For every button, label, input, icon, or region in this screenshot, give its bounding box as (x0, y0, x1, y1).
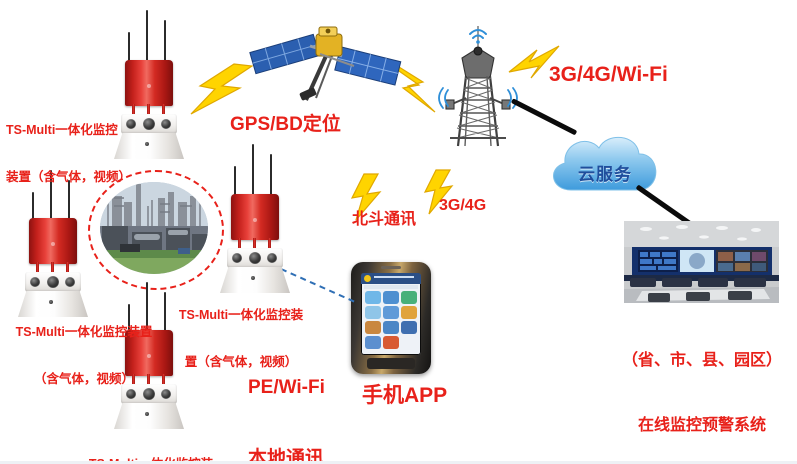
sensor-port-2 (47, 276, 59, 288)
sensor-port-2 (249, 252, 261, 264)
label-device-top-line1: TS-Multi一体化监控 (6, 123, 131, 139)
satellite-icon (246, 6, 406, 102)
label-device-bottom-line1: TS-Multi一体化监控装 (76, 457, 226, 464)
app-icon-8[interactable] (383, 321, 399, 334)
label-control-room-line2: 在线监控预警系统 (612, 415, 792, 437)
app-icon-12 (401, 336, 417, 349)
sensor-port-3 (161, 119, 171, 129)
device-screen[interactable] (361, 273, 421, 355)
device-body (29, 218, 77, 264)
sensor-port-1 (232, 253, 242, 263)
label-local-comm-line2: 本地通讯 (248, 447, 325, 464)
rugged-handheld-device[interactable] (351, 262, 431, 374)
app-icon-3[interactable] (401, 291, 417, 304)
base-indicator (145, 142, 149, 146)
label-device-left-line1: TS-Multi一体化监控装置 (4, 325, 164, 341)
cell-tower-icon (432, 18, 524, 150)
label-control-room-line1: （省、市、县、园区） (612, 350, 792, 372)
app-icon-10[interactable] (365, 336, 381, 349)
device-body (125, 60, 173, 106)
label-device-top-line2: 装置（含气体，视频） (6, 170, 131, 186)
app-icon-1[interactable] (365, 291, 381, 304)
label-gps-positioning: GPS/BD定位 (230, 113, 341, 137)
device-keypad[interactable] (367, 358, 415, 369)
sensor-port-2 (143, 118, 155, 130)
label-phone-app: 手机APP (362, 383, 447, 409)
app-icon-11[interactable] (383, 336, 399, 349)
app-icon-grid[interactable] (365, 291, 417, 349)
label-device-center-line1: TS-Multi一体化监控装 (166, 308, 316, 324)
label-wireless-3g4g-wifi: 3G/4G/Wi-Fi (549, 62, 668, 88)
label-local-comm-line1: PE/Wi-Fi (248, 376, 325, 400)
app-icon-6[interactable] (401, 306, 417, 319)
app-icon-4[interactable] (365, 306, 381, 319)
monitoring-device-center (218, 142, 296, 292)
lightning-bolt-gps-uplink (188, 62, 254, 118)
app-icon-9[interactable] (401, 321, 417, 334)
label-3g4g: 3G/4G (439, 196, 486, 216)
app-subheader (364, 285, 418, 289)
label-beidou-comm: 北斗通讯 (352, 210, 416, 230)
label-local-communication: PE/Wi-Fi 本地通讯 (248, 328, 325, 464)
label-device-left-line2: （含气体，视频） (4, 372, 164, 388)
label-device-top: TS-Multi一体化监控 装置（含气体，视频） (6, 92, 131, 217)
label-control-room: （省、市、县、园区） 在线监控预警系统 (612, 307, 792, 464)
app-icon-7[interactable] (365, 321, 381, 334)
speaker-grille (381, 266, 401, 269)
cloud-service-icon: 云服务 (541, 120, 669, 198)
cloud-label: 云服务 (541, 160, 669, 185)
app-icon-5[interactable] (383, 306, 399, 319)
sensor-port-3 (65, 277, 75, 287)
app-icon-2[interactable] (383, 291, 399, 304)
sensor-port-3 (267, 253, 277, 263)
device-body (231, 194, 279, 240)
sensor-port-1 (30, 277, 40, 287)
app-header-icon (364, 275, 371, 282)
control-room-video-wall-photo (624, 221, 779, 303)
diagram-canvas: 云服务 (0, 0, 797, 464)
label-device-left: TS-Multi一体化监控装置 （含气体，视频） (4, 294, 164, 419)
label-device-bottom: TS-Multi一体化监控装 置（含气体，视频） (76, 426, 226, 464)
app-header-text (374, 276, 414, 278)
